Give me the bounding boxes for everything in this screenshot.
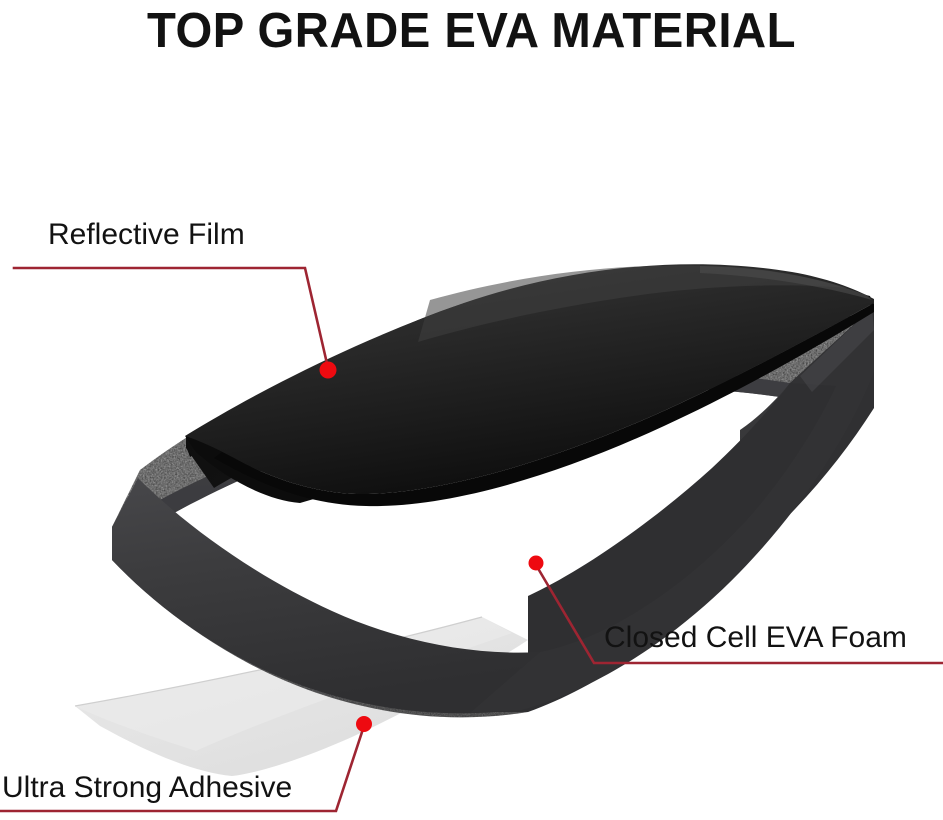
leader-line-reflective-film bbox=[14, 268, 328, 368]
material-cutaway-illustration bbox=[0, 0, 943, 820]
callout-label-closed-cell-eva-foam: Closed Cell EVA Foam bbox=[604, 623, 907, 653]
callout-label-ultra-strong-adhesive: Ultra Strong Adhesive bbox=[2, 773, 292, 803]
callout-dot-ultra-strong-adhesive bbox=[356, 716, 372, 732]
callout-label-reflective-film: Reflective Film bbox=[48, 220, 245, 250]
infographic-canvas: TOP GRADE EVA MATERIAL bbox=[0, 0, 943, 820]
callout-dot-closed-cell-eva-foam bbox=[529, 556, 544, 571]
callout-dot-reflective-film bbox=[320, 362, 337, 379]
